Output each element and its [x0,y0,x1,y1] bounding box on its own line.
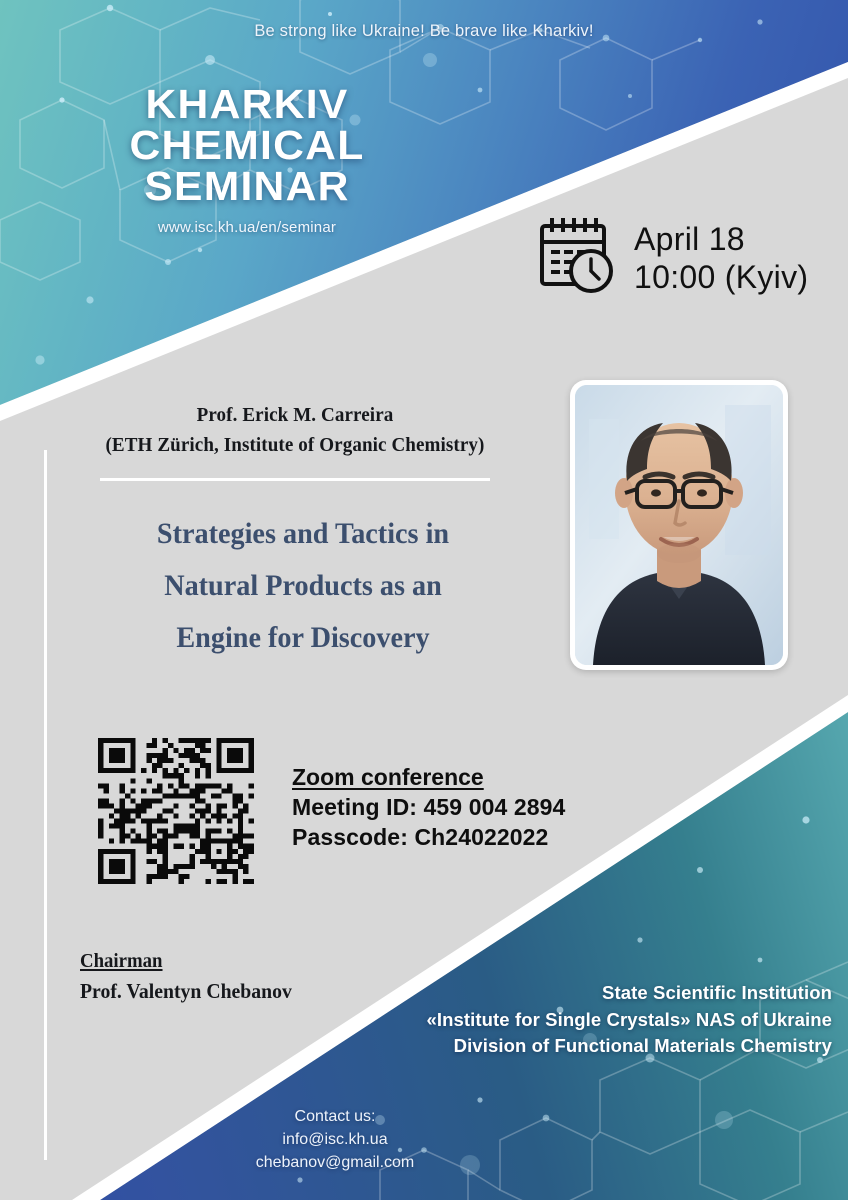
chairman-block: Chairman Prof. Valentyn Chebanov [80,946,305,1006]
zoom-conference-block: Zoom conference Meeting ID: 459 004 2894… [292,762,565,852]
contact-email-info[interactable]: info@isc.kh.ua [185,1128,485,1151]
speaker-name: Prof. Erick M. Carreira [86,400,505,430]
contact-email-chebanov[interactable]: chebanov@gmail.com [185,1151,485,1174]
institution-block: State Scientific Institution «Institute … [312,980,832,1060]
institution-line-1: State Scientific Institution [312,980,832,1007]
zoom-qr-code[interactable] [98,738,254,884]
speaker-divider [100,478,490,481]
contact-block: Contact us: info@isc.kh.ua chebanov@gmai… [185,1105,485,1174]
institution-line-3: Division of Functional Materials Chemist… [312,1033,832,1060]
seminar-website-url[interactable]: www.isc.kh.ua/en/seminar [82,219,412,236]
chairman-heading: Chairman [80,946,292,976]
zoom-passcode: Passcode: Ch24022022 [292,822,565,852]
calendar-clock-icon [536,214,618,301]
brand-line-kharkiv: KHARKIV [75,84,418,125]
solidarity-slogan: Be strong like Ukraine! Be brave like Kh… [0,22,848,41]
zoom-conference-heading: Zoom conference [292,762,565,792]
chairman-name: Prof. Valentyn Chebanov [80,976,292,1006]
talk-title-line-2: Natural Products as an [101,560,505,612]
speaker-photo [575,385,783,665]
seminar-date: April 18 [634,220,808,258]
zoom-meeting-id: Meeting ID: 459 004 2894 [292,792,565,822]
brand-line-seminar: SEMINAR [75,166,418,207]
schedule-block: April 18 10:00 (Kyiv) [536,214,808,301]
seminar-time: 10:00 (Kyiv) [634,258,808,296]
brand-line-chemical: CHEMICAL [75,125,418,166]
seminar-brand: KHARKIV CHEMICAL SEMINAR www.isc.kh.ua/e… [82,84,412,236]
seminar-poster: Be strong like Ukraine! Be brave like Kh… [0,0,848,1200]
contact-heading: Contact us: [185,1105,485,1128]
speaker-photo-frame [570,380,788,670]
speaker-block: Prof. Erick M. Carreira (ETH Zürich, Ins… [70,400,520,481]
left-vertical-rule [44,450,47,1160]
speaker-affiliation: (ETH Zürich, Institute of Organic Chemis… [86,430,505,460]
institution-line-2: «Institute for Single Crystals» NAS of U… [312,1007,832,1034]
schedule-text: April 18 10:00 (Kyiv) [634,220,808,296]
talk-title: Strategies and Tactics in Natural Produc… [101,508,505,664]
talk-title-line-3: Engine for Discovery [101,612,505,664]
talk-title-line-1: Strategies and Tactics in [101,508,505,560]
